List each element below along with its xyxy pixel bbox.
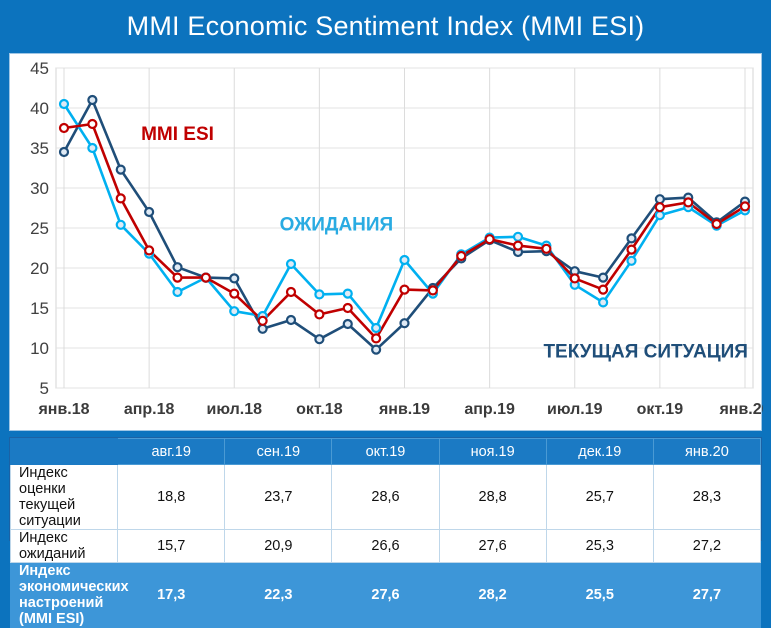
y-tick-label: 35 (30, 139, 49, 158)
series-point (88, 144, 96, 152)
series-point (344, 320, 352, 328)
series-point (457, 252, 465, 260)
table-cell-value: 18,8 (118, 465, 225, 530)
series-point (202, 274, 210, 282)
x-tick-label: апр.19 (464, 401, 515, 418)
series-point (60, 124, 68, 132)
y-tick-label: 40 (30, 99, 49, 118)
y-tick-label: 15 (30, 299, 49, 318)
table-cell-value: 27,2 (653, 530, 760, 563)
series-point (656, 195, 664, 203)
table-column-header: янв.20 (653, 439, 760, 465)
table-row: Индекс ожиданий15,720,926,627,625,327,2 (11, 530, 761, 563)
series-point (401, 319, 409, 327)
series-point (344, 290, 352, 298)
series-point (628, 246, 636, 254)
table-header-row: авг.19сен.19окт.19ноя.19дек.19янв.20 (11, 439, 761, 465)
table-column-header: дек.19 (546, 439, 653, 465)
table-cell-value: 27,7 (653, 563, 760, 628)
series-point (60, 100, 68, 108)
data-table: авг.19сен.19окт.19ноя.19дек.19янв.20 Инд… (10, 438, 761, 628)
table-row: Индекс оценки текущей ситуации18,823,728… (11, 465, 761, 530)
series-point (599, 286, 607, 294)
series-point (429, 286, 437, 294)
table-column-header: сен.19 (225, 439, 332, 465)
chart-annotations: MMI ESIОЖИДАНИЯТЕКУЩАЯ СИТУАЦИЯ (141, 124, 748, 363)
series-point (713, 220, 721, 228)
series-point (628, 257, 636, 265)
series-point (230, 307, 238, 315)
x-tick-label: июл.19 (547, 401, 603, 418)
table-cell-value: 15,7 (118, 530, 225, 563)
series-point (287, 316, 295, 324)
line-chart: 51015202530354045 янв.18апр.18июл.18окт.… (10, 54, 763, 432)
series-point (542, 245, 550, 253)
x-tick-label: апр.18 (124, 401, 175, 418)
chart-annotation: ТЕКУЩАЯ СИТУАЦИЯ (543, 342, 747, 363)
series-point (145, 246, 153, 254)
table-body: Индекс оценки текущей ситуации18,823,728… (11, 465, 761, 628)
title-bar: MMI Economic Sentiment Index (MMI ESI) (0, 0, 771, 52)
x-tick-label: окт.18 (296, 401, 343, 418)
table-cell-value: 22,3 (225, 563, 332, 628)
series-point (599, 298, 607, 306)
series-point (259, 325, 267, 333)
series-point (599, 274, 607, 282)
series-point (145, 208, 153, 216)
series-point (230, 274, 238, 282)
series-point (287, 260, 295, 268)
table-cell-value: 28,8 (439, 465, 546, 530)
series-point (486, 235, 494, 243)
chart-annotation: MMI ESI (141, 124, 214, 145)
grid-lines (56, 68, 753, 388)
chart-panel: 51015202530354045 янв.18апр.18июл.18окт.… (9, 53, 762, 431)
series-point (174, 263, 182, 271)
series-point (88, 96, 96, 104)
table-row: Индекс экономических настроений (MMI ESI… (11, 563, 761, 628)
table-row-label: Индекс ожиданий (11, 530, 118, 563)
table-row-label: Индекс экономических настроений (MMI ESI… (11, 563, 118, 628)
series-point (372, 346, 380, 354)
table-cell-value: 26,6 (332, 530, 439, 563)
series-point (117, 221, 125, 229)
x-tick-label: янв.20 (718, 401, 763, 418)
series-point (372, 324, 380, 332)
table-cell-value: 25,5 (546, 563, 653, 628)
table-cell-value: 27,6 (332, 563, 439, 628)
table-column-header: авг.19 (118, 439, 225, 465)
y-axis-labels: 51015202530354045 (30, 59, 49, 398)
series-point (684, 198, 692, 206)
series-point (117, 166, 125, 174)
series-point (315, 290, 323, 298)
table-cell-value: 28,2 (439, 563, 546, 628)
page-title: MMI Economic Sentiment Index (MMI ESI) (127, 11, 645, 42)
series-point (656, 203, 664, 211)
table-corner-cell (11, 439, 118, 465)
series-point (315, 310, 323, 318)
table-cell-value: 27,6 (439, 530, 546, 563)
series-point (174, 288, 182, 296)
series-point (117, 194, 125, 202)
table-cell-value: 25,7 (546, 465, 653, 530)
series-point (174, 274, 182, 282)
y-tick-label: 5 (40, 379, 49, 398)
x-tick-label: окт.19 (637, 401, 684, 418)
series-point (401, 256, 409, 264)
series-point (88, 120, 96, 128)
series-point (344, 304, 352, 312)
series-point (741, 202, 749, 210)
y-tick-label: 10 (30, 339, 49, 358)
series-point (315, 335, 323, 343)
series-point (230, 290, 238, 298)
series-point (401, 286, 409, 294)
y-tick-label: 25 (30, 219, 49, 238)
x-tick-label: июл.18 (206, 401, 262, 418)
series-point (60, 148, 68, 156)
y-tick-label: 30 (30, 179, 49, 198)
series-point (571, 274, 579, 282)
table-column-header: окт.19 (332, 439, 439, 465)
chart-annotation: ОЖИДАНИЯ (280, 214, 394, 235)
series-point (514, 233, 522, 241)
x-tick-label: янв.18 (37, 401, 89, 418)
series-point (628, 234, 636, 242)
data-table-panel: авг.19сен.19окт.19ноя.19дек.19янв.20 Инд… (9, 437, 762, 541)
table-cell-value: 23,7 (225, 465, 332, 530)
x-axis-labels: янв.18апр.18июл.18окт.18янв.19апр.19июл.… (37, 401, 763, 418)
y-tick-label: 45 (30, 59, 49, 78)
table-cell-value: 25,3 (546, 530, 653, 563)
table-column-header: ноя.19 (439, 439, 546, 465)
series-point (514, 242, 522, 250)
table-head: авг.19сен.19окт.19ноя.19дек.19янв.20 (11, 439, 761, 465)
table-cell-value: 28,6 (332, 465, 439, 530)
y-tick-label: 20 (30, 259, 49, 278)
series-point (287, 288, 295, 296)
table-cell-value: 28,3 (653, 465, 760, 530)
x-tick-label: янв.19 (378, 401, 430, 418)
table-row-label: Индекс оценки текущей ситуации (11, 465, 118, 530)
series-point (656, 211, 664, 219)
series-point (259, 317, 267, 325)
table-cell-value: 20,9 (225, 530, 332, 563)
series-point (372, 334, 380, 342)
table-cell-value: 17,3 (118, 563, 225, 628)
